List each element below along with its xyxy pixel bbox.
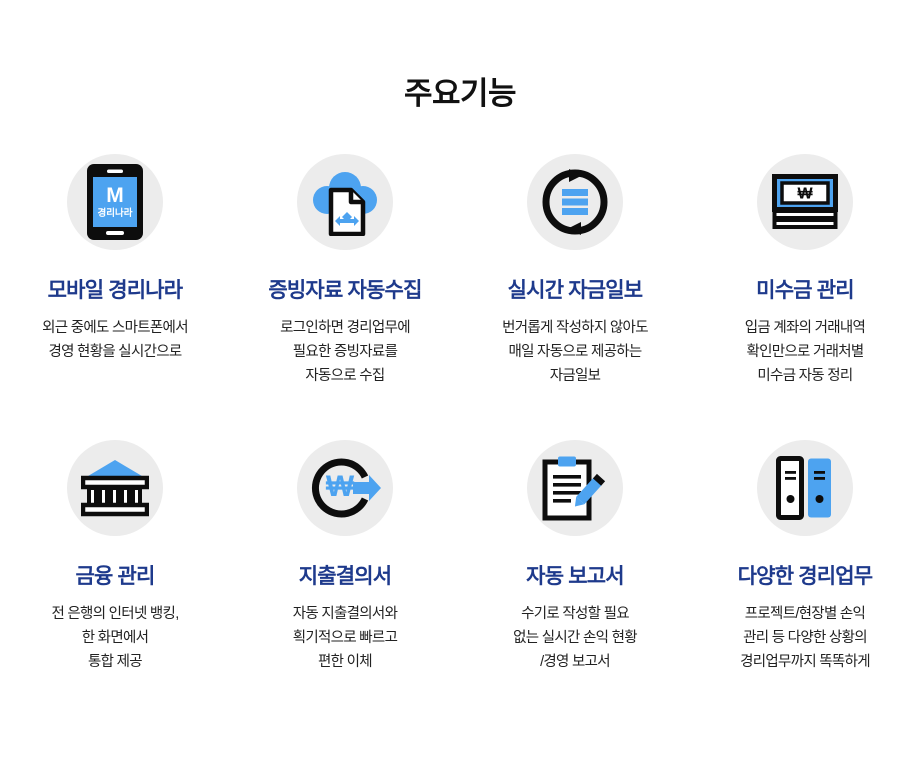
won-transfer-arrow-icon: ₩	[297, 440, 393, 536]
feature-card-expense-report[interactable]: ₩ 지출결의서 자동 지출결의서와 획기적으로 빠르고 편한 이체	[230, 440, 460, 674]
feature-title: 자동 보고서	[526, 565, 624, 589]
feature-description: 전 은행의 인터넷 뱅킹, 한 화면에서 통합 제공	[51, 602, 178, 674]
feature-description: 입금 계좌의 거래내역 확인만으로 거래처별 미수금 자동 정리	[745, 316, 865, 388]
feature-overview-page: 주요기능 M 경리나라 모바일 경리나라 외근 중에도 스마트폰에서 경영 현황…	[0, 21, 920, 779]
feature-title: 금융 관리	[75, 565, 154, 589]
feature-grid: M 경리나라 모바일 경리나라 외근 중에도 스마트폰에서 경영 현황을 실시간…	[0, 154, 920, 674]
feature-card-accounting-tasks[interactable]: 다양한 경리업무 프로젝트/현장별 손익 관리 등 다양한 상황의 경리업무까지…	[690, 440, 920, 674]
feature-title: 미수금 관리	[756, 279, 854, 303]
feature-description: 프로젝트/현장별 손익 관리 등 다양한 상황의 경리업무까지 똑똑하게	[740, 602, 870, 674]
feature-card-evidence-collection[interactable]: 증빙자료 자동수집 로그인하면 경리업무에 필요한 증빙자료를 자동으로 수집	[230, 154, 460, 388]
mobile-phone-icon: M 경리나라	[67, 154, 163, 250]
page-title: 주요기능	[0, 21, 920, 112]
clipboard-pencil-icon	[527, 440, 623, 536]
svg-text:M: M	[106, 184, 124, 207]
svg-text:경리나라: 경리나라	[98, 207, 133, 219]
feature-card-receivables[interactable]: ₩ 미수금 관리 입금 계좌의 거래내역 확인만으로 거래처별 미수금 자동 정…	[690, 154, 920, 388]
feature-title: 증빙자료 자동수집	[268, 279, 421, 303]
svg-text:₩: ₩	[797, 185, 813, 202]
feature-card-auto-report[interactable]: 자동 보고서 수기로 작성할 필요 없는 실시간 손익 현황 /경영 보고서	[460, 440, 690, 674]
bank-building-icon	[67, 440, 163, 536]
feature-title: 다양한 경리업무	[738, 565, 873, 589]
feature-title: 지출결의서	[299, 565, 392, 589]
cloud-document-icon	[297, 154, 393, 250]
feature-description: 외근 중에도 스마트폰에서 경영 현황을 실시간으로	[42, 316, 188, 364]
feature-description: 로그인하면 경리업무에 필요한 증빙자료를 자동으로 수집	[280, 316, 410, 388]
svg-text:₩: ₩	[326, 470, 355, 503]
feature-title: 모바일 경리나라	[48, 279, 183, 303]
refresh-cycle-icon	[527, 154, 623, 250]
feature-card-banking[interactable]: 금융 관리 전 은행의 인터넷 뱅킹, 한 화면에서 통합 제공	[0, 440, 230, 674]
feature-card-mobile[interactable]: M 경리나라 모바일 경리나라 외근 중에도 스마트폰에서 경영 현황을 실시간…	[0, 154, 230, 388]
binders-icon	[757, 440, 853, 536]
feature-description: 수기로 작성할 필요 없는 실시간 손익 현황 /경영 보고서	[513, 602, 637, 674]
feature-description: 자동 지출결의서와 획기적으로 빠르고 편한 이체	[293, 602, 397, 674]
feature-description: 번거롭게 작성하지 않아도 매일 자동으로 제공하는 자금일보	[502, 316, 648, 388]
feature-title: 실시간 자금일보	[508, 279, 643, 303]
monitor-won-icon: ₩	[757, 154, 853, 250]
feature-card-realtime-cashflow[interactable]: 실시간 자금일보 번거롭게 작성하지 않아도 매일 자동으로 제공하는 자금일보	[460, 154, 690, 388]
